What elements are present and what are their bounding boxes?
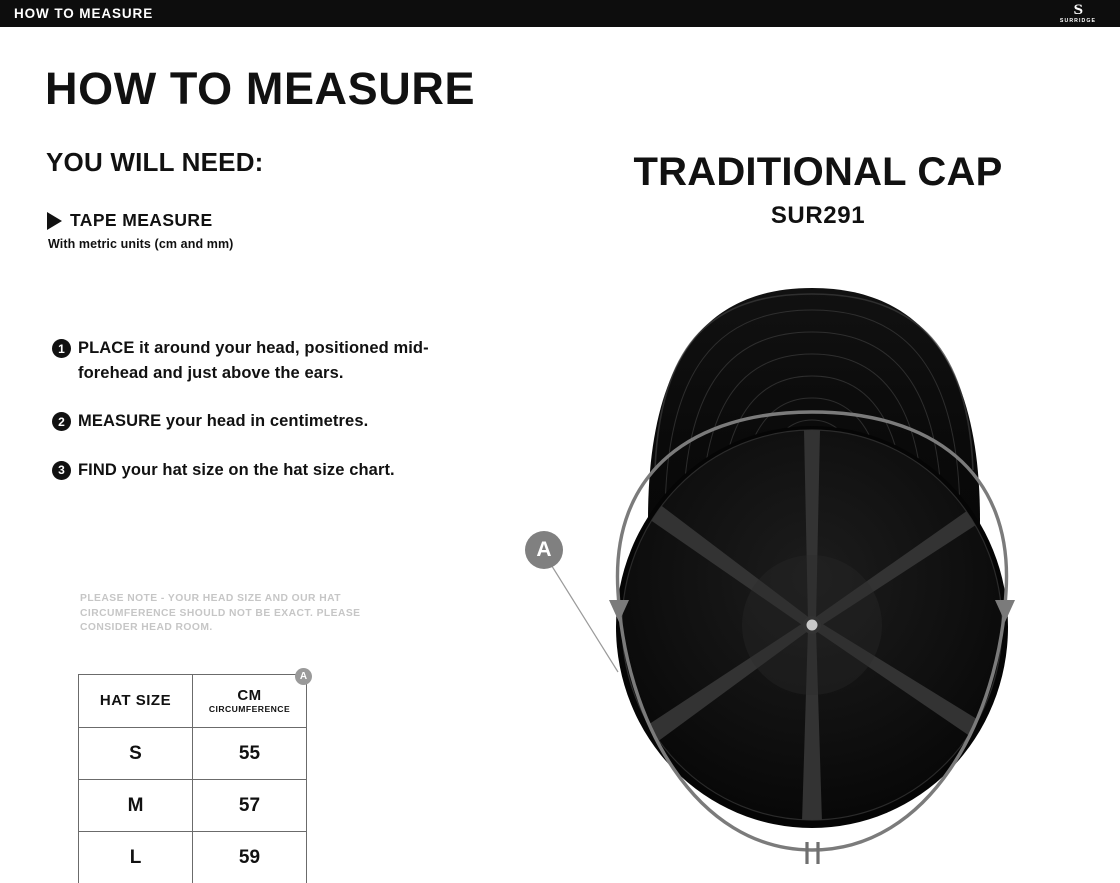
- callout-leader-line: [545, 555, 618, 672]
- size-table: HAT SIZE CM CIRCUMFERENCE A S 55: [78, 674, 307, 883]
- header-cell-hat-size: HAT SIZE: [79, 675, 193, 728]
- step-number-badge: 1: [52, 339, 71, 358]
- top-bar: HOW TO MEASURE S SURRIDGE: [0, 0, 1120, 27]
- tool-description-label: With metric units (cm and mm): [48, 237, 233, 251]
- tool-item-tape-measure: TAPE MEASURE: [47, 210, 213, 231]
- top-bar-title: HOW TO MEASURE: [14, 6, 153, 21]
- cell-value: S: [129, 743, 142, 764]
- brand-logo: S SURRIDGE: [1046, 1, 1110, 26]
- step-number-badge: 2: [52, 412, 71, 431]
- cell-value: 59: [239, 847, 260, 868]
- crown-button-icon: [807, 620, 818, 631]
- step-item: 3 FIND your hat size on the hat size cha…: [52, 458, 452, 483]
- table-row: M 57: [79, 780, 307, 832]
- tool-name-label: TAPE MEASURE: [70, 210, 213, 231]
- table-header-row: HAT SIZE CM CIRCUMFERENCE A: [79, 675, 307, 728]
- brand-mark-icon: S: [1074, 3, 1082, 17]
- cell-hat-size: S: [79, 728, 193, 780]
- cell-value: L: [130, 847, 142, 868]
- brand-name: SURRIDGE: [1060, 18, 1096, 25]
- measurement-end-ticks: [807, 842, 818, 864]
- cell-circumference: 55: [193, 728, 307, 780]
- step-text: FIND your hat size on the hat size chart…: [78, 458, 395, 483]
- header-label-circumference: CIRCUMFERENCE: [194, 704, 305, 715]
- header-label-hat-size: HAT SIZE: [100, 692, 171, 709]
- product-title: TRADITIONAL CAP: [588, 150, 1048, 195]
- how-to-measure-page: HOW TO MEASURE S SURRIDGE HOW TO MEASURE…: [0, 0, 1120, 883]
- cap-diagram: [505, 270, 1065, 883]
- cell-hat-size: M: [79, 780, 193, 832]
- cell-hat-size: L: [79, 832, 193, 883]
- you-will-need-heading: YOU WILL NEED:: [46, 147, 264, 178]
- step-item: 2 MEASURE your head in centimetres.: [52, 409, 452, 434]
- hat-size-chart: HAT SIZE CM CIRCUMFERENCE A S 55: [78, 674, 307, 883]
- table-row: L 59: [79, 832, 307, 883]
- cell-value: 55: [239, 743, 260, 764]
- cell-value: M: [128, 795, 144, 816]
- cell-circumference: 59: [193, 832, 307, 883]
- step-text: PLACE it around your head, positioned mi…: [78, 336, 452, 385]
- step-item: 1 PLACE it around your head, positioned …: [52, 336, 452, 385]
- step-text: MEASURE your head in centimetres.: [78, 409, 368, 434]
- header-label-cm: CM: [194, 687, 305, 704]
- steps-list: 1 PLACE it around your head, positioned …: [52, 336, 452, 506]
- measurement-callout-a: A: [525, 531, 563, 569]
- product-code: SUR291: [588, 202, 1048, 230]
- triangle-bullet-icon: [47, 212, 62, 230]
- step-number-badge: 3: [52, 461, 71, 480]
- page-title: HOW TO MEASURE: [45, 63, 475, 115]
- measurement-badge-a: A: [295, 668, 312, 685]
- cell-value: 57: [239, 795, 260, 816]
- cell-circumference: 57: [193, 780, 307, 832]
- please-note-text: PLEASE NOTE - YOUR HEAD SIZE AND OUR HAT…: [80, 592, 410, 636]
- table-row: S 55: [79, 728, 307, 780]
- header-cell-circumference: CM CIRCUMFERENCE A: [193, 675, 307, 728]
